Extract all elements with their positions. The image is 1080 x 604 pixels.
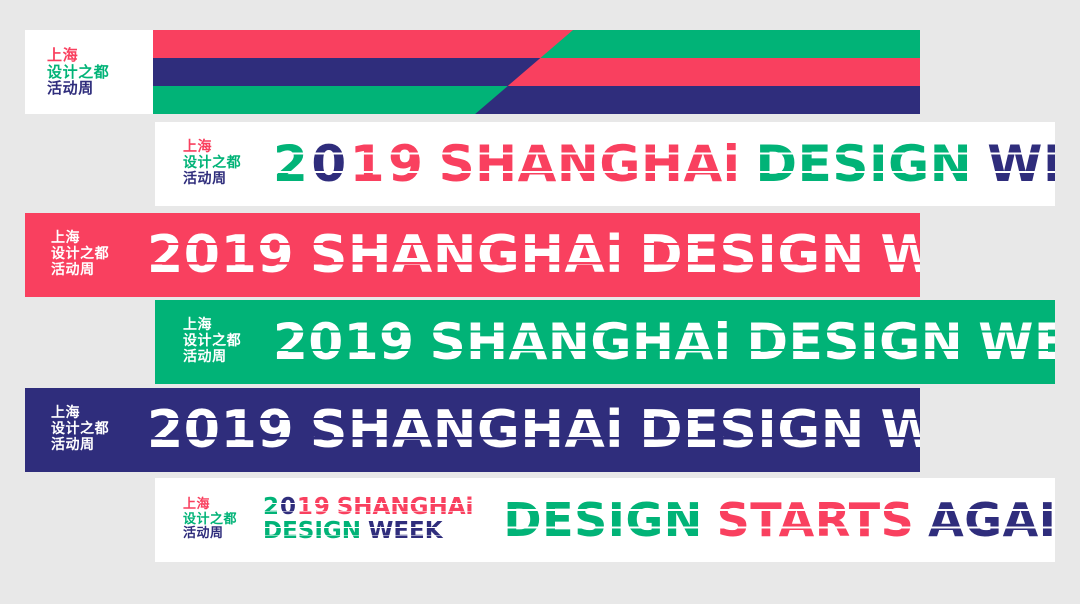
wordmark-year: 2019: [147, 400, 294, 460]
logo-line-city-of-design: 设计之都: [183, 334, 273, 350]
tagline-lockup-bar: 上海 设计之都 活动周 2 0 1 9 SHANGHAi DESIGN WEEK…: [155, 478, 1055, 562]
logo-variations-board: 上海 设计之都 活动周 上海 设计之都 活动周 2 0 1 9 SHANGH: [0, 0, 1080, 604]
wordmark-shanghai: SHANGHAi: [439, 135, 741, 193]
wordmark-year-digit-9: 9: [314, 496, 330, 520]
logo-line-shanghai: 上海: [47, 47, 153, 64]
pink-inline-lockup-bar: 上海 设计之都 活动周 2019 SHANGHAi DESIGN WEEK: [25, 213, 920, 297]
wordmark-shanghai: SHANGHAi: [310, 225, 624, 285]
wordmark-shanghai: SHANGHAi: [430, 313, 732, 371]
logo-line-shanghai: 上海: [183, 318, 273, 334]
wordmark-design: DESIGN: [746, 313, 963, 371]
logo-line-shanghai: 上海: [183, 140, 273, 156]
logo-lockup-cjk: 上海 设计之都 活动周: [25, 231, 147, 278]
wordmark-year: 2019: [147, 225, 294, 285]
wordmark-shanghai: SHANGHAi: [310, 400, 624, 460]
wordmark: 2019 SHANGHAi DESIGN WEEK: [273, 313, 1055, 371]
wordmark-year-digit-9: 9: [388, 135, 423, 193]
wordmark: 2019 SHANGHAi DESIGN WEEK: [147, 225, 920, 285]
logo-lockup-cjk: 上海 设计之都 活动周: [25, 47, 153, 97]
wordmark-year-digit-2: 2: [263, 496, 279, 520]
stripe-band-shift-2: [475, 58, 920, 86]
wordmark-shanghai: SHANGHAi: [337, 496, 474, 520]
logo-line-activity-week: 活动周: [183, 527, 263, 542]
wordmark: 2019 SHANGHAi DESIGN WEEK: [147, 400, 920, 460]
wordmark-week: WEEK: [368, 520, 443, 544]
stripe-band-shift-3: [475, 86, 920, 114]
wordmark-year-digit-2: 2: [273, 135, 308, 193]
wordmark-design: DESIGN: [639, 225, 864, 285]
logo-line-city-of-design: 设计之都: [51, 247, 147, 263]
logo-lockup-cjk: 上海 设计之都 活动周: [155, 498, 263, 542]
navy-inline-lockup-bar: 上海 设计之都 活动周 2019 SHANGHAi DESIGN WEEK: [25, 388, 920, 472]
wordmark-year-digit-1: 1: [350, 135, 385, 193]
wordmark-year-digit-0: 0: [280, 496, 296, 520]
stacked-wordmark-line-2: DESIGN WEEK: [263, 520, 473, 544]
wordmark-week: WEEK: [880, 225, 920, 285]
logo-line-shanghai: 上海: [51, 406, 147, 422]
logo-line-shanghai: 上海: [51, 231, 147, 247]
logo-lockup-cjk: 上海 设计之都 活动周: [155, 318, 273, 365]
stacked-wordmark-line-1: 2 0 1 9 SHANGHAi: [263, 496, 473, 520]
logo-line-shanghai: 上海: [183, 498, 263, 513]
striped-flag-bar: 上海 设计之都 活动周: [25, 30, 920, 114]
wordmark-year-digit-0: 0: [311, 135, 346, 193]
logo-line-city-of-design: 设计之都: [47, 64, 153, 81]
logo-line-activity-week: 活动周: [51, 438, 147, 454]
logo-line-activity-week: 活动周: [183, 172, 273, 188]
wordmark: 2 0 1 9 SHANGHAi DESIGN WEEK: [273, 135, 1055, 193]
wordmark-week: WEEK: [978, 313, 1055, 371]
wordmark-week: WEEK: [987, 135, 1055, 193]
wordmark-design: DESIGN: [755, 135, 972, 193]
tagline-word-again: AGAIN: [928, 493, 1055, 547]
logo-line-activity-week: 活动周: [183, 350, 273, 366]
tagline: DESIGN STARTS AGAIN: [503, 493, 1055, 547]
wordmark-week: WEEK: [880, 400, 920, 460]
tricolor-stripes: [153, 30, 920, 114]
tagline-word-starts: STARTS: [717, 493, 915, 547]
logo-line-city-of-design: 设计之都: [51, 422, 147, 438]
logo-lockup-cjk: 上海 设计之都 活动周: [25, 406, 147, 453]
white-inline-lockup-bar: 上海 设计之都 活动周 2 0 1 9 SHANGHAi DESIGN WEEK: [155, 122, 1055, 206]
logo-line-activity-week: 活动周: [51, 263, 147, 279]
wordmark-design: DESIGN: [263, 520, 361, 544]
wordmark-design: DESIGN: [639, 400, 864, 460]
logo-lockup-cjk: 上海 设计之都 活动周: [155, 140, 273, 187]
stacked-wordmark: 2 0 1 9 SHANGHAi DESIGN WEEK: [263, 496, 473, 544]
logo-line-city-of-design: 设计之都: [183, 156, 273, 172]
wordmark-year: 2019: [273, 313, 415, 371]
wordmark-year-digit-1: 1: [297, 496, 313, 520]
green-inline-lockup-bar: 上海 设计之都 活动周 2019 SHANGHAi DESIGN WEEK: [155, 300, 1055, 384]
tagline-word-design: DESIGN: [503, 493, 702, 547]
logo-line-activity-week: 活动周: [47, 80, 153, 97]
